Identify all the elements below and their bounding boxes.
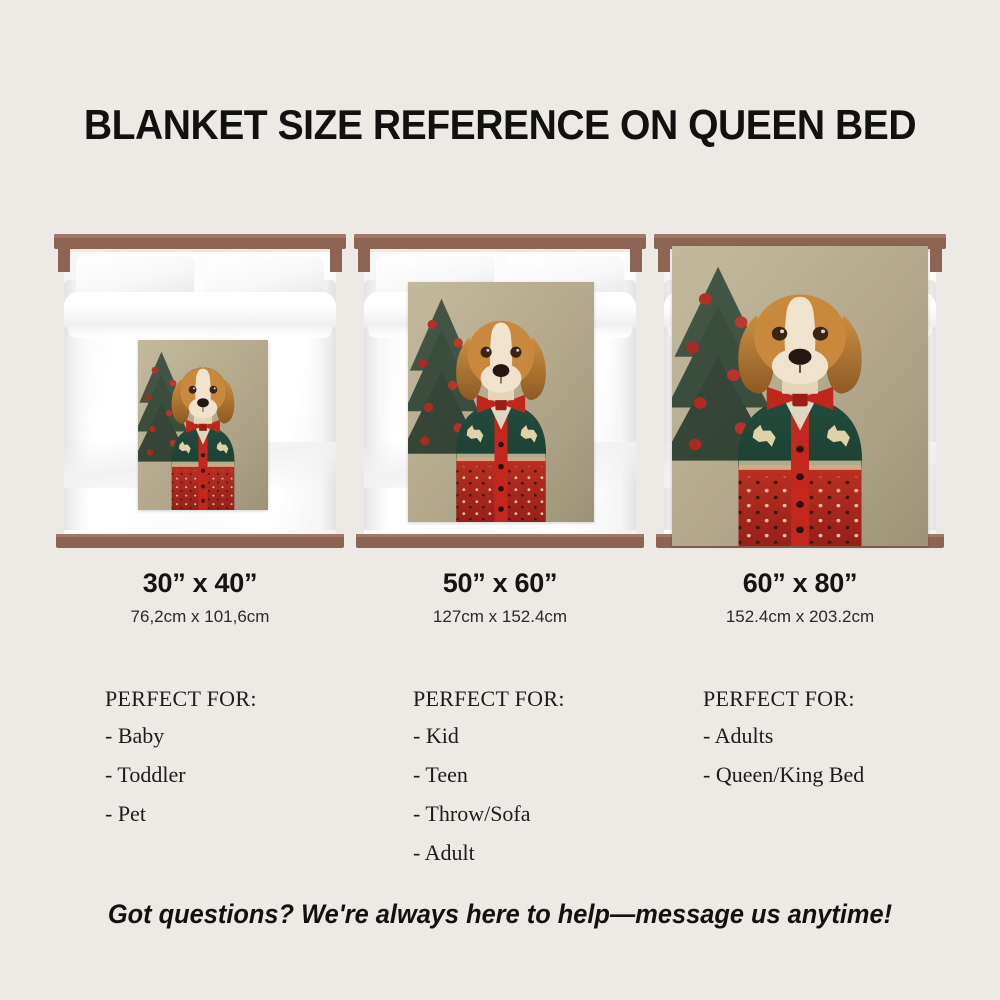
size-cm-large: 152.4cm x 203.2cm — [650, 607, 950, 627]
bed-headboard-rail — [54, 234, 346, 249]
blanket-preview-medium — [408, 282, 594, 522]
perfect-for-heading: PERFECT FOR: — [413, 686, 703, 712]
infographic-page: BLANKET SIZE REFERENCE ON QUEEN BED — [0, 0, 1000, 1000]
bed-post-top-left — [658, 246, 670, 272]
perfect-for-large: PERFECT FOR: - Adults - Queen/King Bed — [703, 686, 993, 801]
bed-footboard-rail — [56, 534, 344, 548]
size-inches-small: 30” x 40” — [50, 568, 350, 599]
bed-footboard-rail — [356, 534, 644, 548]
beagle-christmas-artwork — [408, 282, 594, 522]
perfect-for-item: - Pet — [105, 801, 395, 827]
blanket-preview-large — [672, 246, 928, 546]
size-inches-large: 60” x 80” — [650, 568, 950, 599]
beagle-christmas-artwork — [672, 246, 928, 546]
size-cm-small: 76,2cm x 101,6cm — [50, 607, 350, 627]
queen-bed-illustration — [650, 232, 950, 562]
perfect-for-small: PERFECT FOR: - Baby - Toddler - Pet — [105, 686, 395, 840]
perfect-for-item: - Baby — [105, 723, 395, 749]
perfect-for-medium: PERFECT FOR: - Kid - Teen - Throw/Sofa -… — [413, 686, 703, 879]
bed-post-top-right — [630, 246, 642, 272]
queen-bed-illustration — [50, 232, 350, 562]
perfect-for-heading: PERFECT FOR: — [703, 686, 993, 712]
duvet-fold — [64, 292, 336, 328]
size-column-medium — [350, 232, 650, 562]
pillow-right — [206, 256, 324, 296]
perfect-for-item: - Adults — [703, 723, 993, 749]
size-column-large — [650, 232, 950, 562]
bed-post-top-left — [358, 246, 370, 272]
bed-post-top-left — [58, 246, 70, 272]
duvet-fold-edge — [68, 324, 332, 338]
perfect-for-item: - Throw/Sofa — [413, 801, 703, 827]
perfect-for-item: - Toddler — [105, 762, 395, 788]
support-message: Got questions? We're always here to help… — [30, 899, 970, 930]
bed-post-top-right — [330, 246, 342, 272]
blanket-preview-small — [138, 340, 268, 510]
bed-headboard-rail — [354, 234, 646, 249]
page-title: BLANKET SIZE REFERENCE ON QUEEN BED — [35, 101, 965, 149]
bed-post-top-right — [930, 246, 942, 272]
perfect-for-heading: PERFECT FOR: — [105, 686, 395, 712]
perfect-for-item: - Kid — [413, 723, 703, 749]
pillow-left — [76, 256, 194, 296]
perfect-for-item: - Adult — [413, 840, 703, 866]
size-column-small — [50, 232, 350, 562]
perfect-for-item: - Queen/King Bed — [703, 762, 993, 788]
perfect-for-item: - Teen — [413, 762, 703, 788]
size-cm-medium: 127cm x 152.4cm — [350, 607, 650, 627]
beagle-christmas-artwork — [138, 340, 268, 510]
queen-bed-illustration — [350, 232, 650, 562]
size-inches-medium: 50” x 60” — [350, 568, 650, 599]
